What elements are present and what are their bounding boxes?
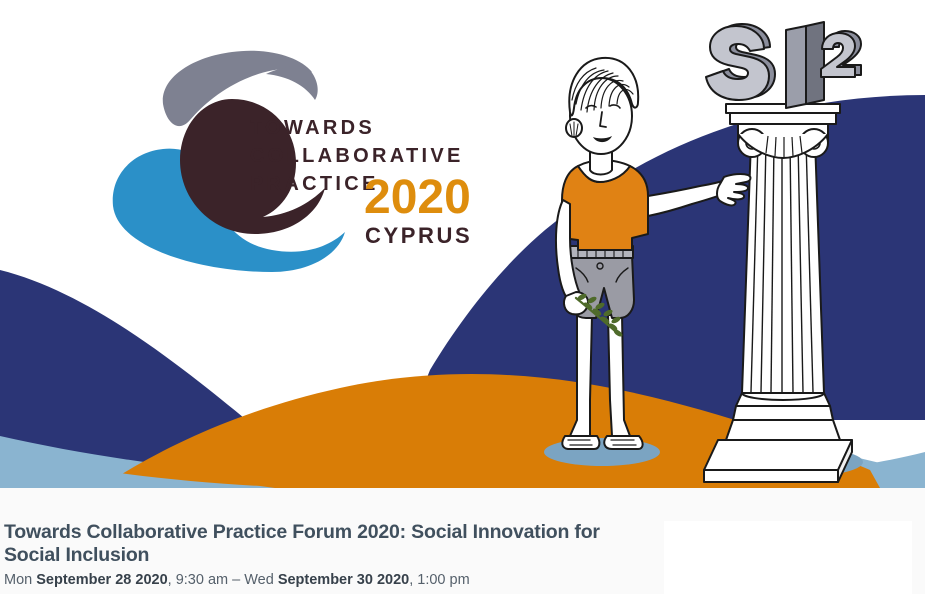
event-date-separator: – — [232, 572, 244, 588]
event-end-day: Wed — [244, 572, 278, 588]
event-banner-image: TOWARDS COLLABORATIVE PRACTICE 2020 CYPR… — [0, 0, 925, 488]
event-date-range: Mon September 28 2020, 9:30 am – Wed Sep… — [4, 572, 470, 589]
page-root: TOWARDS COLLABORATIVE PRACTICE 2020 CYPR… — [0, 0, 925, 594]
banner-artwork: TOWARDS COLLABORATIVE PRACTICE 2020 CYPR… — [0, 0, 925, 488]
event-start-date: September 28 2020 — [36, 572, 167, 588]
column-plinth-top — [704, 440, 852, 470]
logo-line-3: PRACTICE — [250, 173, 379, 195]
event-content: Towards Collaborative Practice Forum 202… — [0, 488, 925, 594]
shorts-button — [597, 263, 603, 269]
woman-right-sandal — [604, 436, 642, 449]
event-title[interactable]: Towards Collaborative Practice Forum 202… — [4, 521, 604, 567]
event-start-time: , 9:30 am — [168, 572, 232, 588]
logo-year: 2020 — [364, 171, 471, 224]
column-base-lower — [726, 420, 840, 440]
si-letter-i — [786, 26, 806, 108]
column-abacus-top — [726, 104, 840, 113]
column-base-mid — [733, 406, 833, 420]
event-side-card — [664, 521, 912, 594]
woman-left-sandal — [562, 436, 599, 449]
logo-location: CYPRUS — [365, 223, 472, 248]
event-end-time: , 1:00 pm — [409, 572, 469, 588]
event-end-date: September 30 2020 — [278, 572, 409, 588]
logo-line-1: TOWARDS — [250, 117, 375, 139]
logo-line-2: COLLABORATIVE — [250, 145, 464, 167]
column-plinth-front — [704, 470, 838, 482]
si-letter-i-shadow — [806, 22, 824, 104]
event-start-day: Mon — [4, 572, 32, 588]
